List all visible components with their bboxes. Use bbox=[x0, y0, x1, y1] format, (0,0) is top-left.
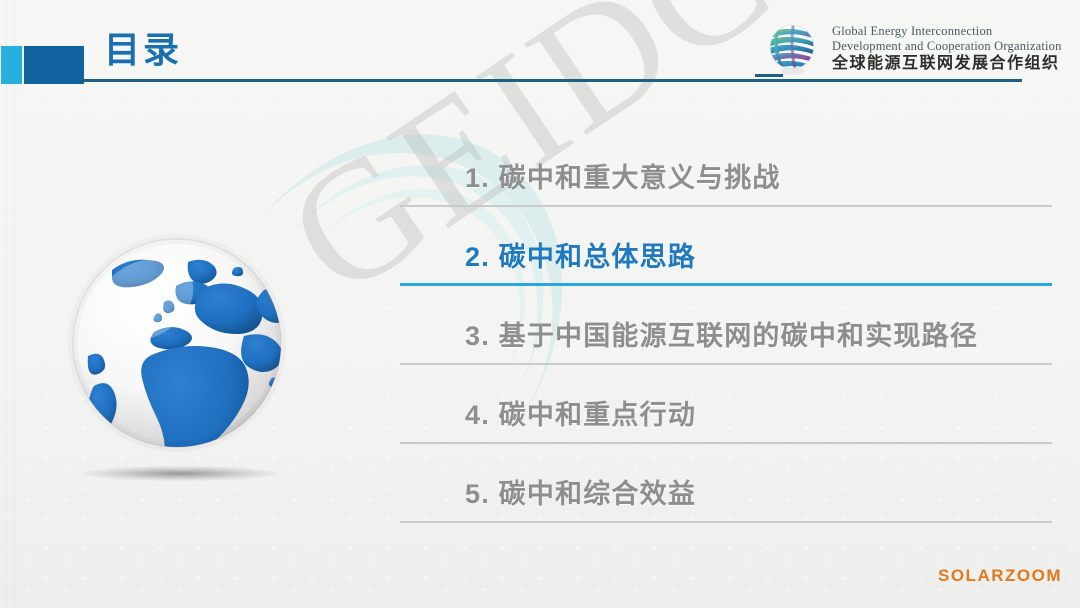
background-vertical-line bbox=[14, 0, 15, 608]
toc-item-5-divider bbox=[400, 521, 1052, 523]
globe-illustration bbox=[58, 228, 296, 466]
toc-item-2[interactable]: 2. 碳中和总体思路 bbox=[400, 207, 1052, 286]
toc-item-5-label: 5. 碳中和综合效益 bbox=[465, 472, 696, 511]
title-accent-chip-blue bbox=[23, 45, 85, 85]
presentation-slide: GEIDCO 目录 bbox=[0, 0, 1080, 608]
table-of-contents: 1. 碳中和重大意义与挑战 2. 碳中和总体思路 3. 基于中国能源互联网的碳中… bbox=[400, 128, 1052, 523]
toc-item-2-label: 2. 碳中和总体思路 bbox=[465, 235, 696, 274]
title-accent-chip-cyan bbox=[0, 45, 23, 85]
background-vertical-line bbox=[6, 0, 7, 608]
brand-line-en-1: Global Energy Interconnection bbox=[832, 24, 1062, 39]
toc-item-1-label: 1. 碳中和重大意义与挑战 bbox=[465, 156, 781, 195]
toc-item-4-label: 4. 碳中和重点行动 bbox=[465, 393, 696, 432]
striped-globe-icon bbox=[762, 18, 824, 80]
globe-drop-shadow bbox=[82, 466, 278, 481]
toc-item-5[interactable]: 5. 碳中和综合效益 bbox=[400, 444, 1052, 523]
toc-item-3-label: 3. 基于中国能源互联网的碳中和实现路径 bbox=[465, 314, 978, 353]
brand-text-block: Global Energy Interconnection Developmen… bbox=[832, 24, 1062, 74]
solarzoom-watermark: SOLARZOOM bbox=[938, 566, 1062, 586]
brand-logo: Global Energy Interconnection Developmen… bbox=[762, 12, 1072, 86]
page-title: 目录 bbox=[104, 32, 182, 68]
toc-item-3[interactable]: 3. 基于中国能源互联网的碳中和实现路径 bbox=[400, 286, 1052, 365]
brand-line-cn: 全球能源互联网发展合作组织 bbox=[832, 55, 1062, 74]
toc-item-1[interactable]: 1. 碳中和重大意义与挑战 bbox=[400, 128, 1052, 207]
brand-line-en-2: Development and Cooperation Organization bbox=[832, 39, 1062, 54]
toc-item-4[interactable]: 4. 碳中和重点行动 bbox=[400, 365, 1052, 444]
